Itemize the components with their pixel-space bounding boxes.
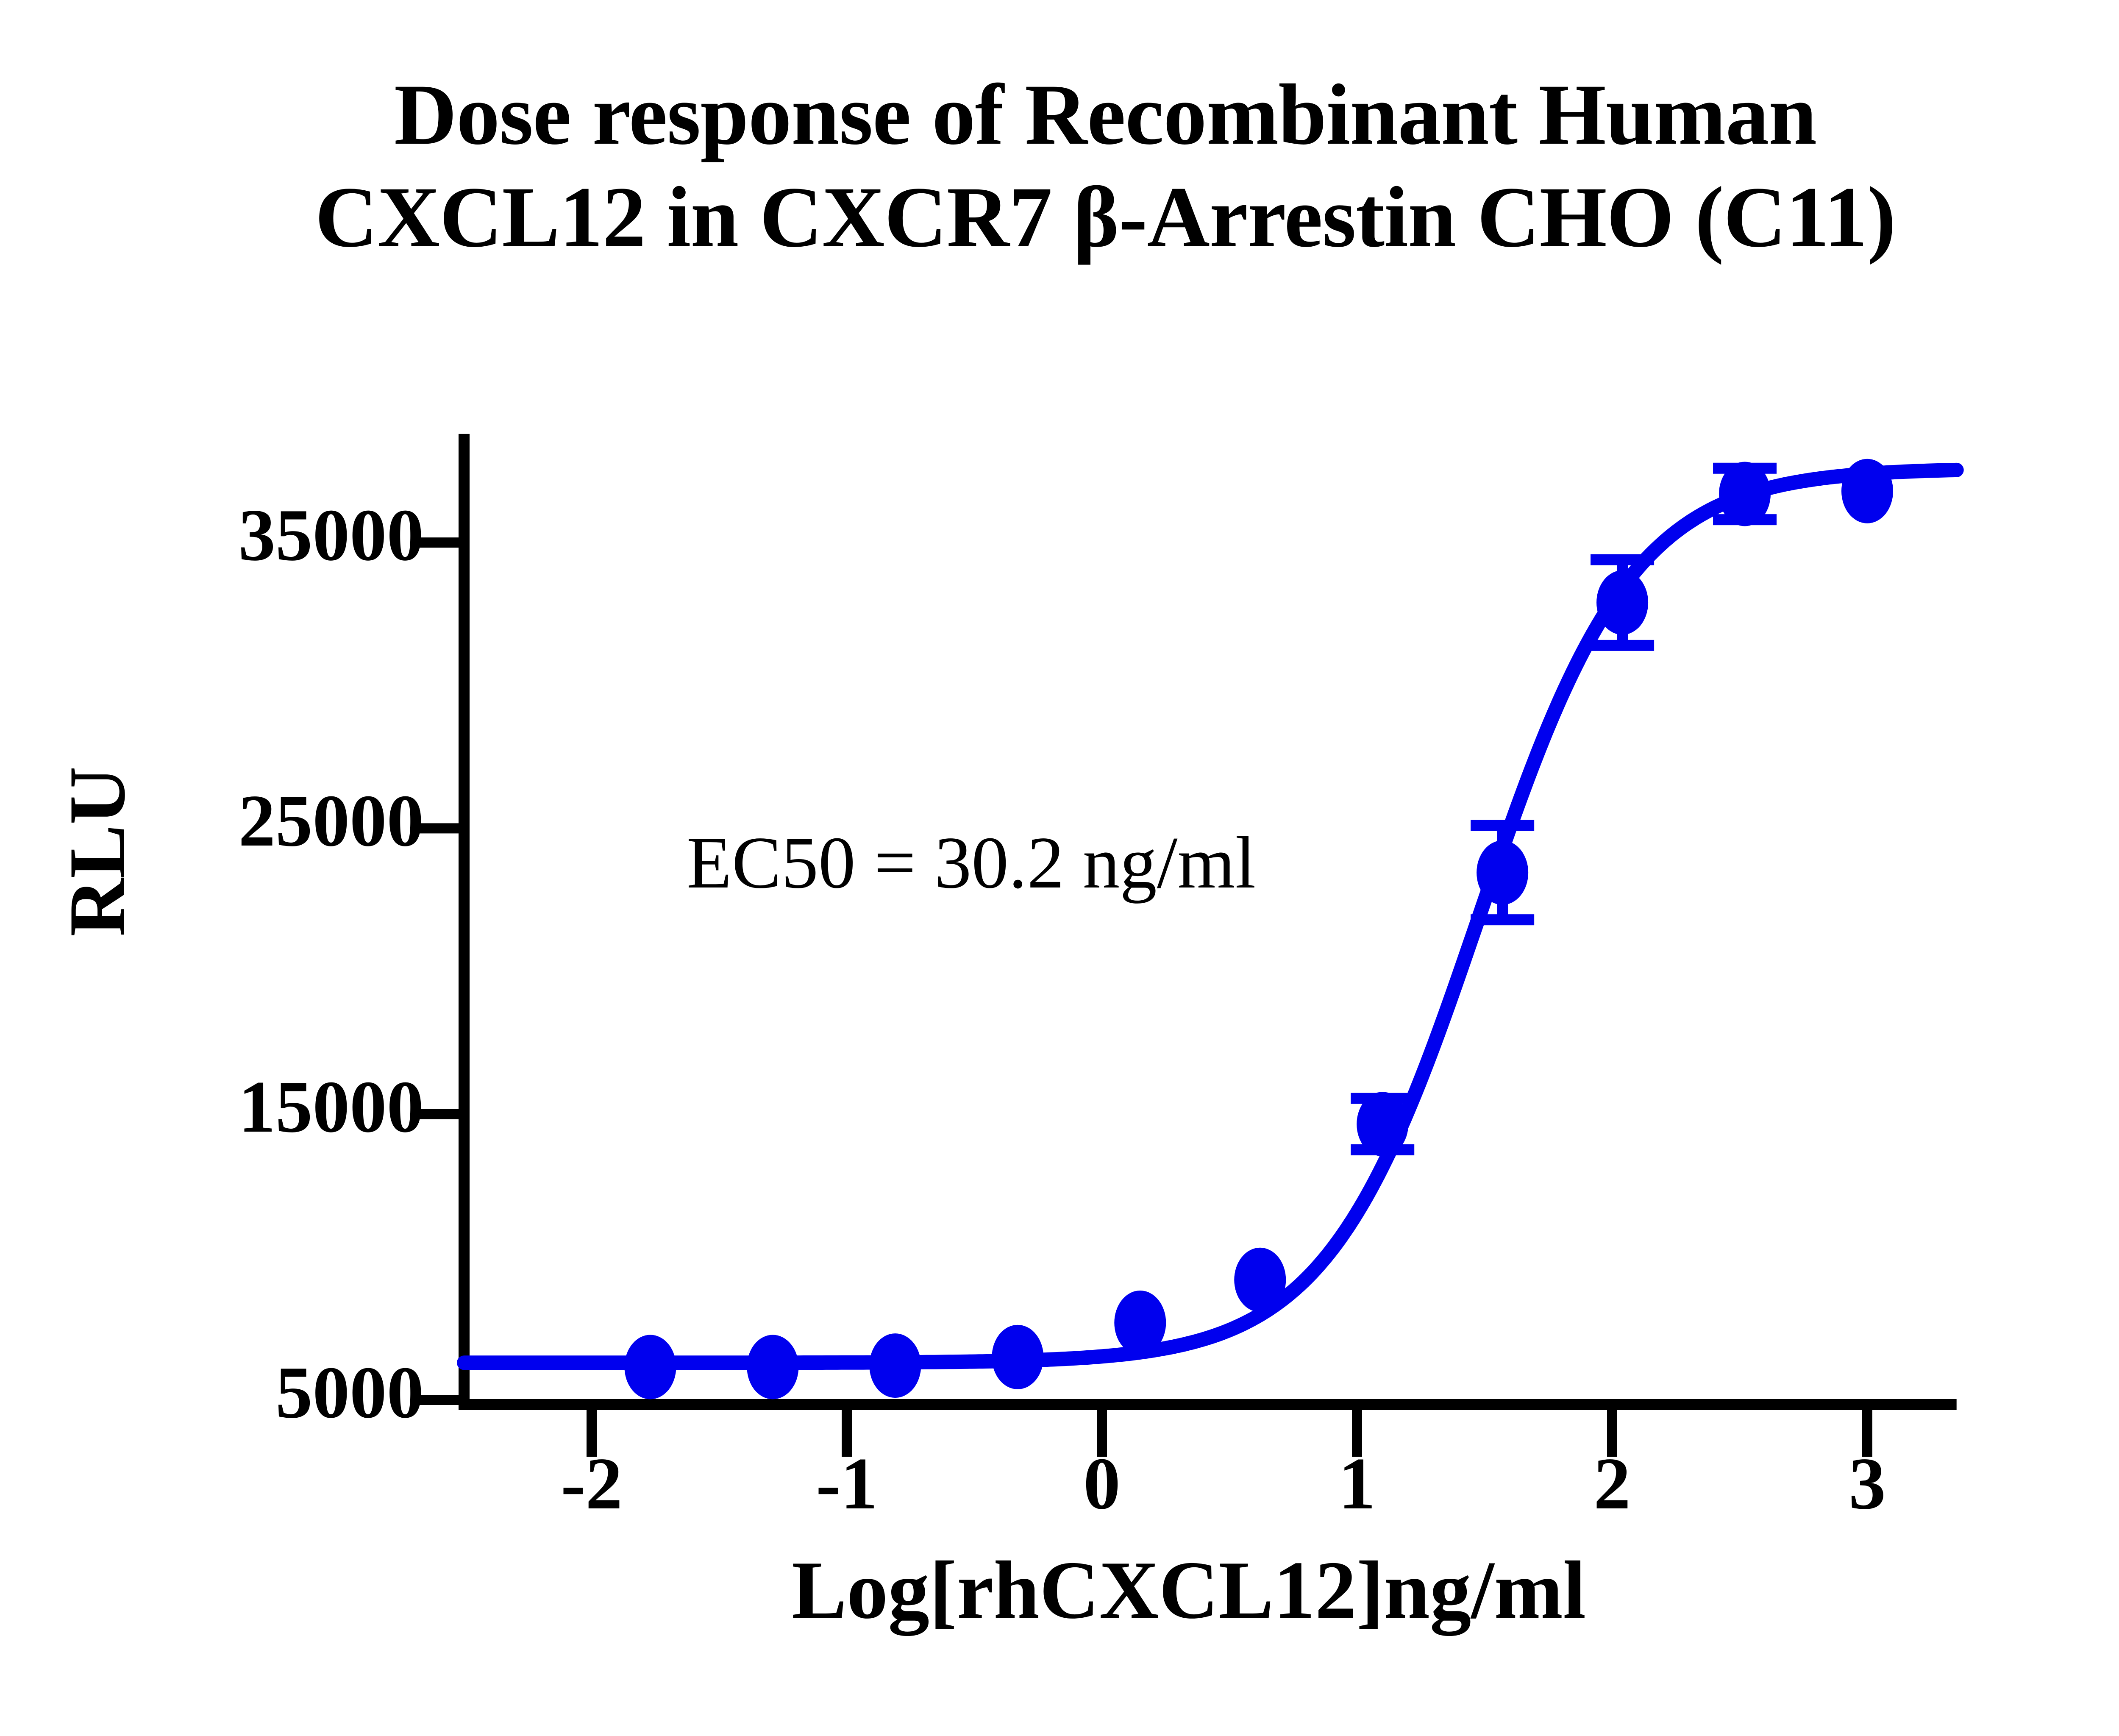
x-tick-mark <box>1607 1410 1617 1457</box>
error-bar-cap-bottom <box>1471 914 1534 925</box>
error-bars <box>1351 463 1777 1155</box>
x-tick-mark <box>1862 1410 1872 1457</box>
y-tick-mark <box>411 1395 464 1405</box>
x-tick-mark <box>1352 1410 1362 1457</box>
error-bar-cap-top <box>1591 554 1654 565</box>
x-axis-spine <box>459 1399 1957 1410</box>
y-tick-mark <box>411 1109 464 1119</box>
y-axis-spine <box>459 434 470 1410</box>
data-points <box>624 459 1893 1399</box>
data-point-marker <box>624 1335 676 1399</box>
data-point-marker <box>1841 459 1893 523</box>
data-point-marker <box>747 1335 798 1399</box>
data-point-marker <box>1596 570 1648 635</box>
data-point-marker <box>1114 1291 1166 1355</box>
data-point-marker <box>992 1325 1043 1389</box>
data-point-marker <box>1234 1248 1286 1312</box>
data-point-marker <box>1357 1092 1408 1156</box>
x-tick-mark <box>587 1410 597 1457</box>
figure-canvas: Dose response of Recombinant Human CXCL1… <box>0 0 2119 1736</box>
error-bar-cap-bottom <box>1591 640 1654 651</box>
error-bar-cap-top <box>1471 820 1534 831</box>
x-tick-mark <box>1097 1410 1107 1457</box>
data-point-marker <box>869 1333 921 1398</box>
y-tick-mark <box>411 537 464 548</box>
fit-curve <box>464 470 1957 1363</box>
axis-lines <box>459 434 1957 1410</box>
plot-area <box>0 0 2119 1736</box>
y-tick-mark <box>411 823 464 833</box>
data-point-marker <box>1719 462 1771 526</box>
fit-curve-path <box>464 470 1957 1363</box>
data-point-marker <box>1477 840 1528 905</box>
x-tick-mark <box>842 1410 852 1457</box>
